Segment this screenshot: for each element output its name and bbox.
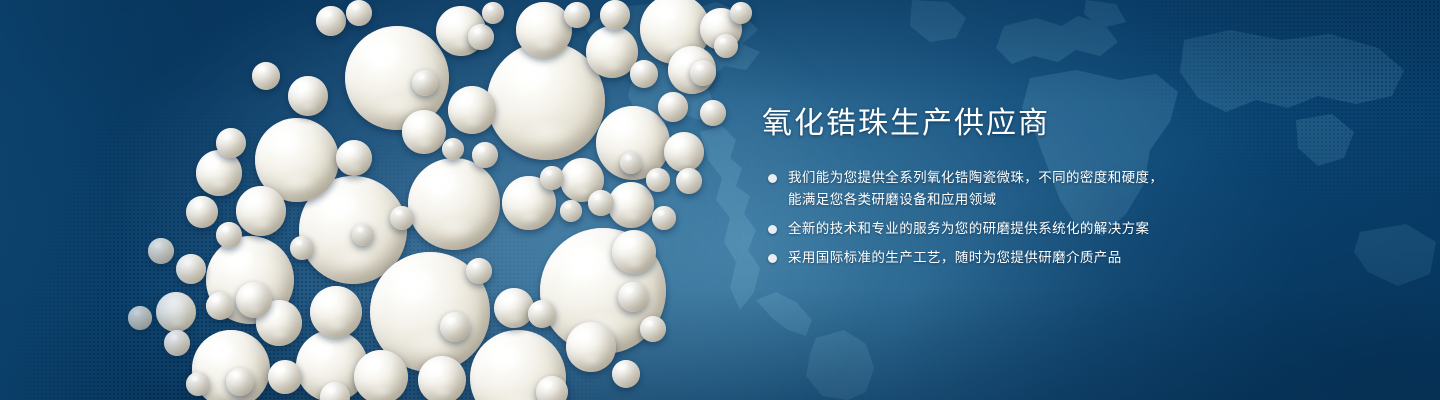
list-item-line: 采用国际标准的生产工艺，随时为您提供研磨介质产品 <box>788 247 1232 269</box>
feature-list: 我们能为您提供全系列氧化锆陶瓷微珠，不同的密度和硬度， 能满足您各类研磨设备和应… <box>762 167 1232 269</box>
list-item-line: 全新的技术和专业的服务为您的研磨提供系统化的解决方案 <box>788 218 1232 240</box>
zirconia-beads-image <box>0 0 760 400</box>
list-item: 我们能为您提供全系列氧化锆陶瓷微珠，不同的密度和硬度， 能满足您各类研磨设备和应… <box>762 167 1232 211</box>
list-item: 全新的技术和专业的服务为您的研磨提供系统化的解决方案 <box>762 218 1232 240</box>
list-item-line: 能满足您各类研磨设备和应用领域 <box>788 189 1232 211</box>
bullet-dot-icon <box>768 254 777 263</box>
banner-text-block: 氧化锆珠生产供应商 我们能为您提供全系列氧化锆陶瓷微珠，不同的密度和硬度， 能满… <box>762 104 1232 269</box>
list-item: 采用国际标准的生产工艺，随时为您提供研磨介质产品 <box>762 247 1232 269</box>
bullet-dot-icon <box>768 174 777 183</box>
bullet-dot-icon <box>768 225 777 234</box>
list-item-line: 我们能为您提供全系列氧化锆陶瓷微珠，不同的密度和硬度， <box>788 167 1232 189</box>
page-title: 氧化锆珠生产供应商 <box>762 104 1232 143</box>
hero-banner: 氧化锆珠生产供应商 我们能为您提供全系列氧化锆陶瓷微珠，不同的密度和硬度， 能满… <box>0 0 1440 400</box>
